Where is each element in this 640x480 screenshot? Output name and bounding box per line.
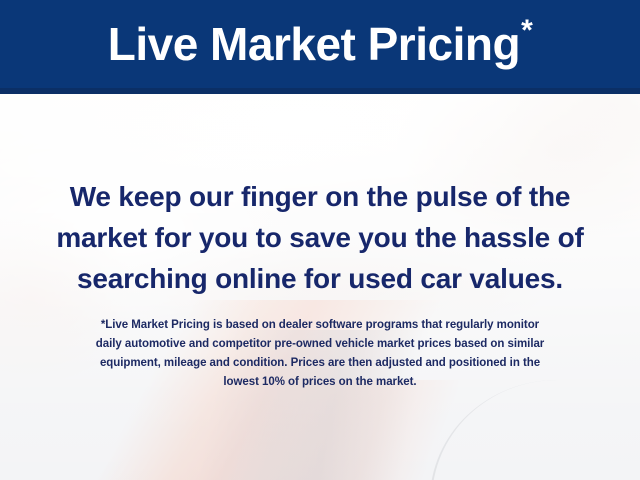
footnote-asterisk-marker: * (521, 16, 532, 46)
header-banner: Live Market Pricing* (0, 0, 640, 94)
headline-line-3: searching online for used car values. (0, 258, 640, 299)
disclaimer-text: *Live Market Pricing is based on dealer … (0, 316, 640, 392)
background-red-car-stripe-secondary (0, 380, 640, 480)
disclaimer-line-4: lowest 10% of prices on the market. (0, 373, 640, 392)
disclaimer-line-1: *Live Market Pricing is based on dealer … (0, 316, 640, 335)
headline-line-2: market for you to save you the hassle of (0, 217, 640, 258)
page-title: Live Market Pricing* (0, 0, 640, 88)
page-title-text: Live Market Pricing (108, 21, 520, 67)
header-banner-underline (0, 88, 640, 94)
headline-line-1: We keep our finger on the pulse of the (0, 176, 640, 217)
background-pillar-arc (430, 380, 612, 480)
disclaimer-line-2: daily automotive and competitor pre-owne… (0, 335, 640, 354)
headline: We keep our finger on the pulse of the m… (0, 176, 640, 299)
disclaimer-line-3: equipment, mileage and condition. Prices… (0, 354, 640, 373)
live-market-pricing-banner: Live Market Pricing* We keep our finger … (0, 0, 640, 480)
